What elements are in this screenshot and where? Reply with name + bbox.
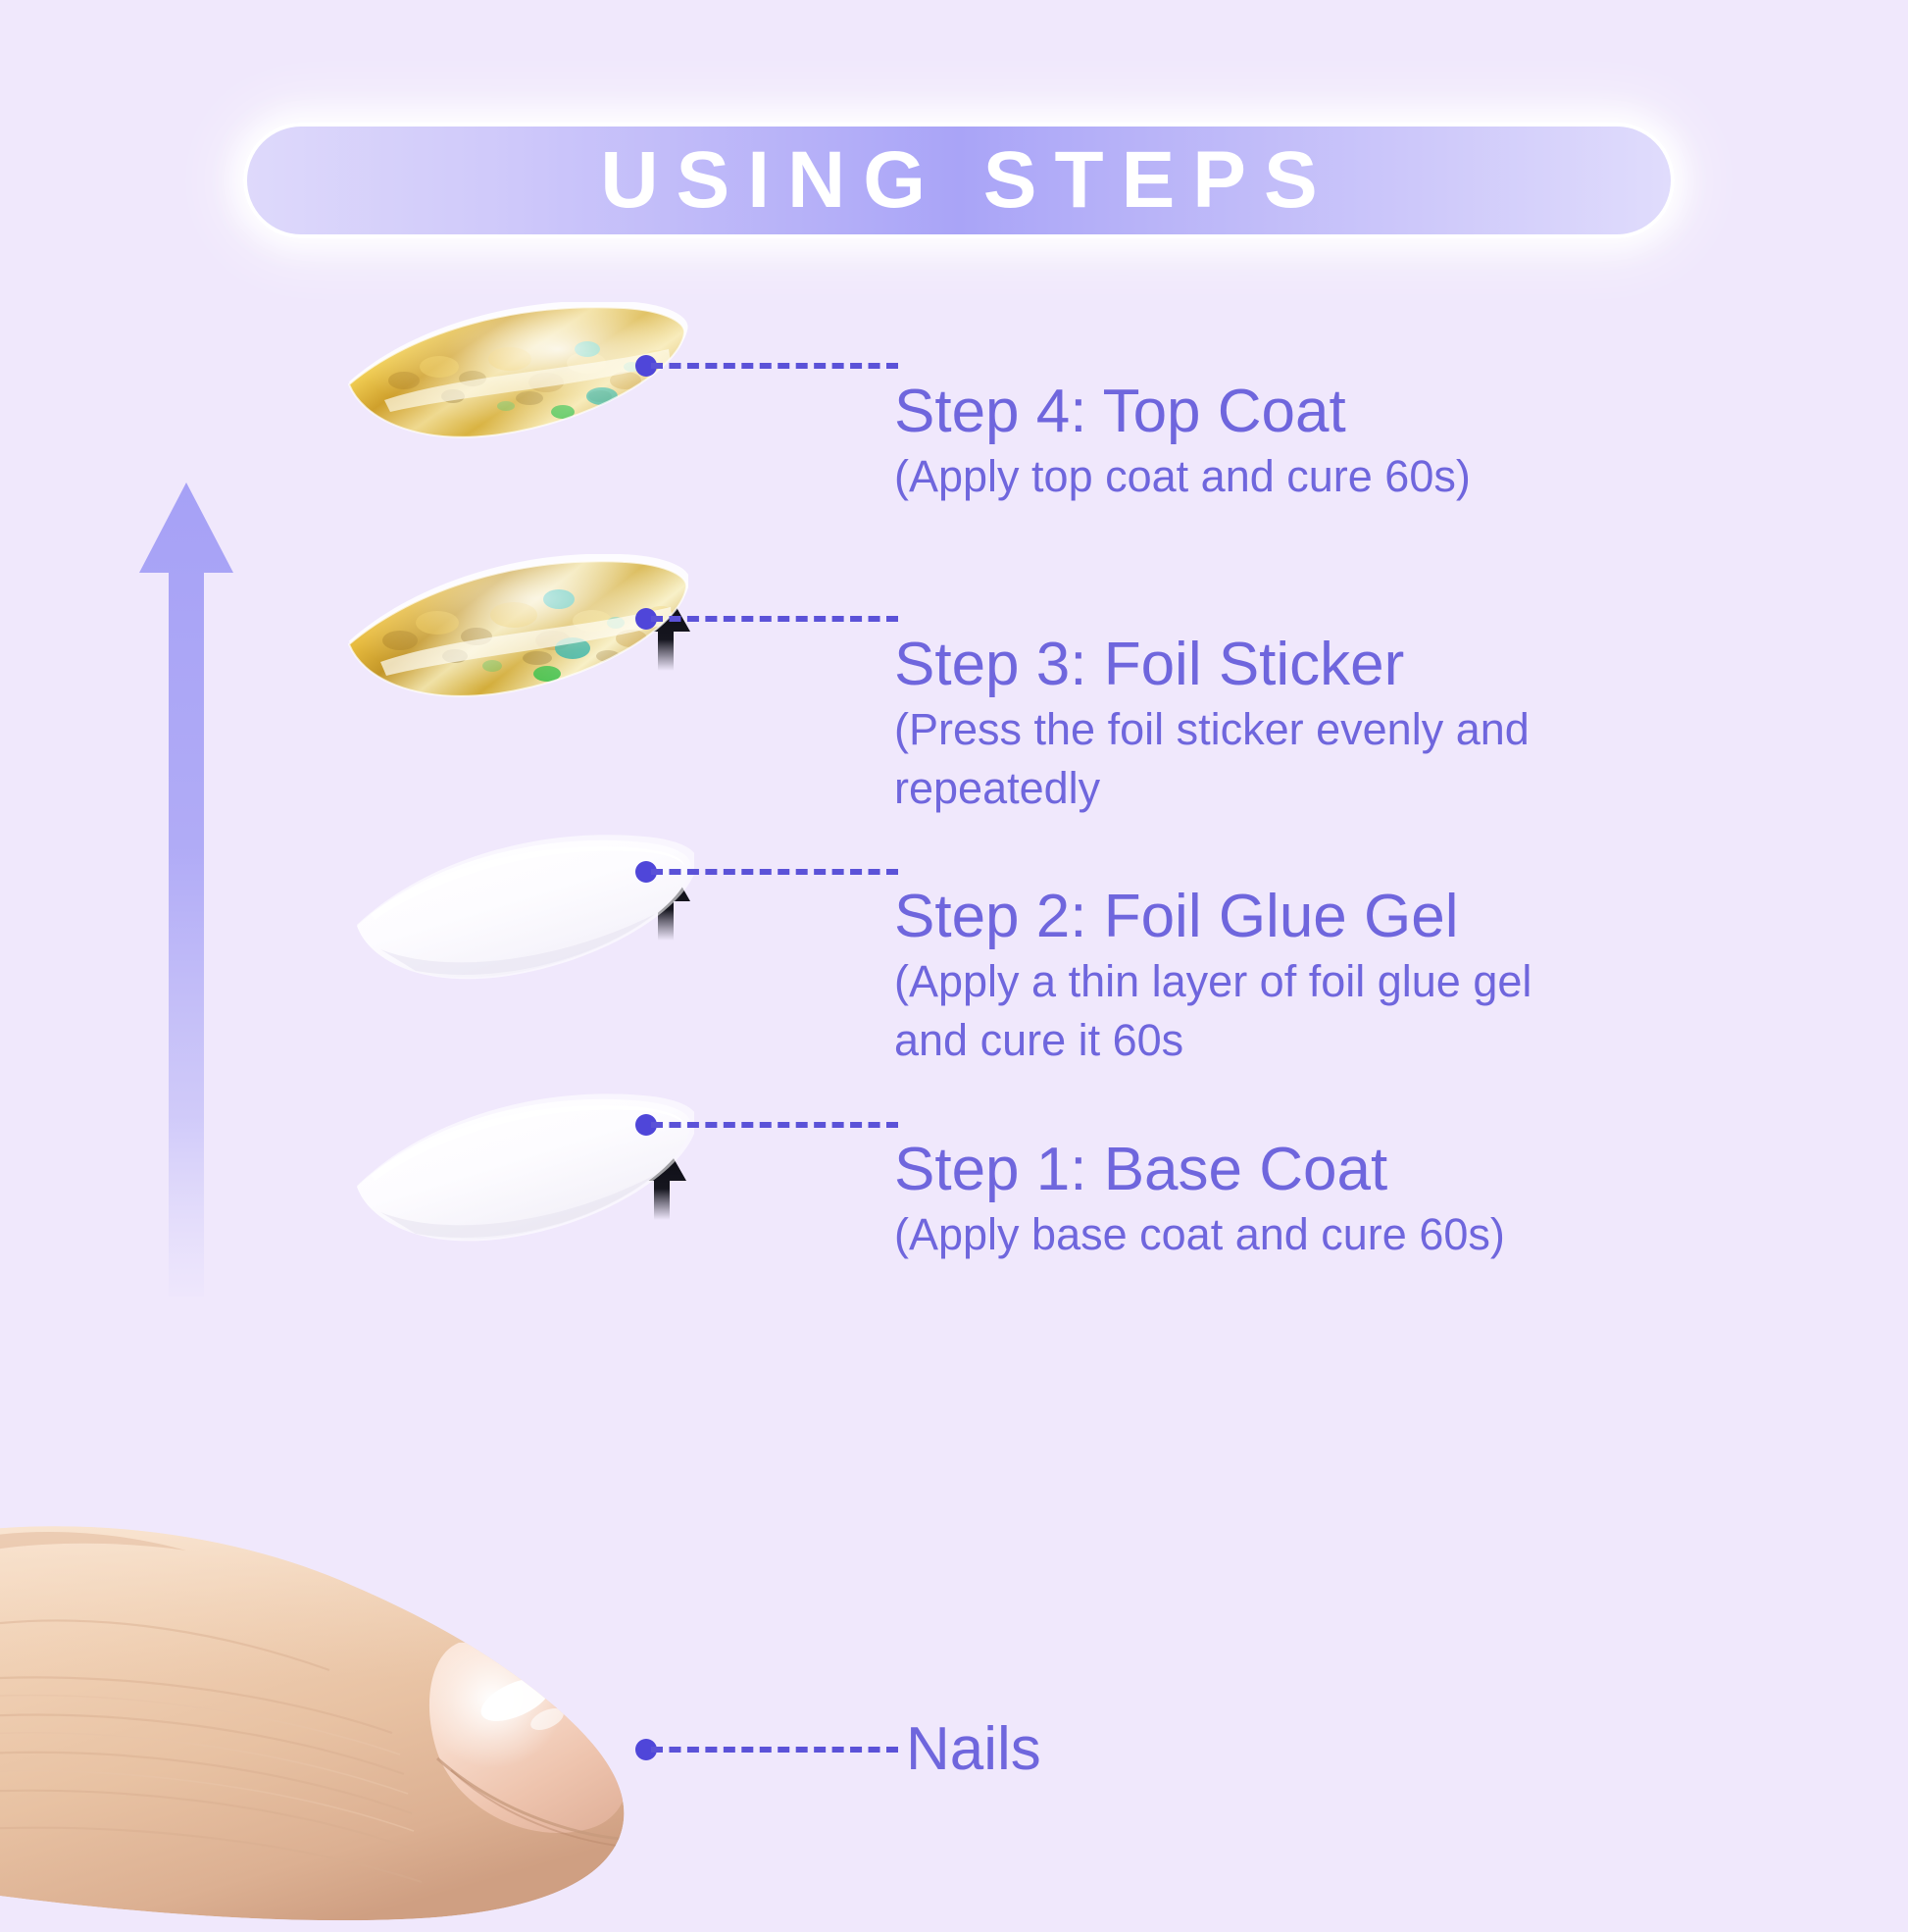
page-title: USING STEPS [243,123,1675,238]
layer-step-3-foil-sticker [345,554,688,701]
connector-dashed-line [651,363,898,369]
step-4-subtitle: (Apply top coat and cure 60s) [894,447,1471,506]
layer-step-2-glue-gel [351,832,694,984]
connector-dashed-line [651,1747,898,1753]
connector-dashed-line [651,869,898,875]
connector-dashed-line [651,616,898,622]
step-block-4: Step 4: Top Coat (Apply top coat and cur… [894,380,1471,506]
poster-canvas: USING STEPS [0,0,1908,1908]
step-block-1: Step 1: Base Coat (Apply base coat and c… [894,1138,1505,1264]
connector-step-1 [635,1116,898,1134]
connector-step-4 [635,357,898,375]
step-2-title: Step 2: Foil Glue Gel [894,885,1581,948]
step-1-title: Step 1: Base Coat [894,1138,1505,1201]
connector-dashed-line [651,1122,898,1128]
step-3-subtitle: (Press the foil sticker evenly and repea… [894,700,1581,818]
step-block-3: Step 3: Foil Sticker (Press the foil sti… [894,633,1581,818]
step-4-title: Step 4: Top Coat [894,380,1471,443]
step-2-subtitle: (Apply a thin layer of foil glue gel and… [894,952,1581,1070]
connector-step-3 [635,610,898,628]
step-3-title: Step 3: Foil Sticker [894,633,1581,696]
fingertip-photo [0,1476,706,1927]
header-banner: USING STEPS [243,123,1675,238]
connector-nails [635,1741,898,1758]
upward-progress-arrow [135,483,237,1296]
step-1-subtitle: (Apply base coat and cure 60s) [894,1205,1505,1264]
step-block-2: Step 2: Foil Glue Gel (Apply a thin laye… [894,885,1581,1070]
nails-label: Nails [906,1714,1041,1784]
connector-step-2 [635,863,898,881]
layer-step-1-base-coat [351,1089,694,1246]
